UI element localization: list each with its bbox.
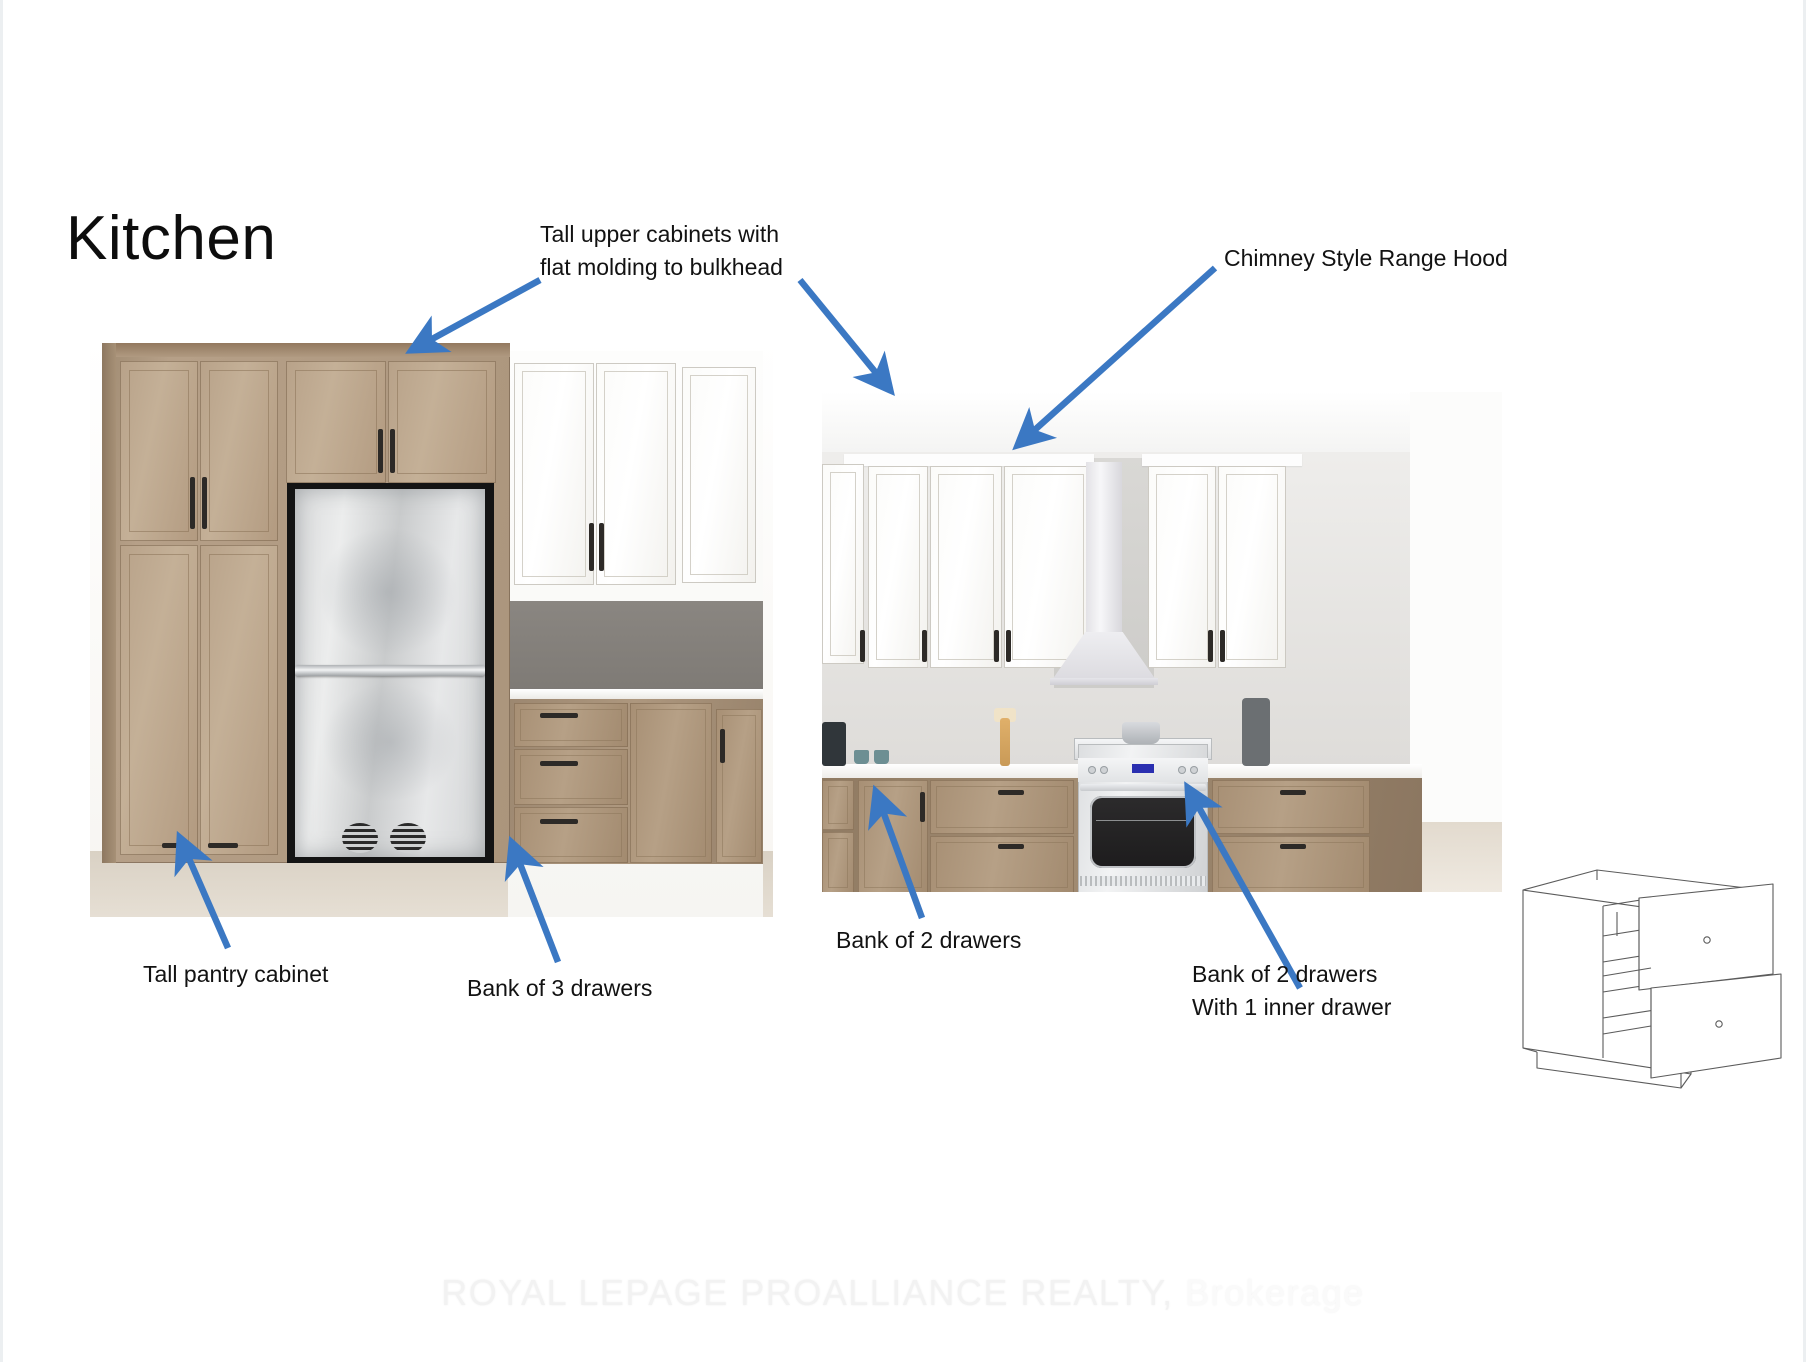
base-door-left [858, 780, 928, 892]
pantry-lower-pull-right [208, 843, 238, 848]
wood-run-top-rail [102, 343, 510, 357]
wood-run-left-side [102, 343, 116, 863]
pantry-upper-pull-left [190, 477, 195, 529]
white-upper-pull-2 [599, 523, 604, 571]
drawer-pull-3 [540, 819, 578, 824]
kitchen-photo-left [90, 337, 773, 917]
corner-drawer-1 [822, 780, 854, 830]
white-upper-door-3 [682, 367, 756, 583]
mug-right [874, 750, 889, 764]
tall-upper-pull-left [378, 429, 383, 473]
left-photo-backsplash [508, 601, 763, 693]
photo-right-side-wall [1410, 392, 1502, 892]
page-title: Kitchen [66, 208, 276, 270]
brokerage-watermark: ROYAL LEPAGE PROALLIANCE REALTY, Brokera… [0, 1272, 1806, 1314]
callout-bank-of-2-drawers: Bank of 2 drawers [836, 924, 1096, 957]
watermark-suffix: Brokerage [1185, 1272, 1365, 1313]
pantry-lower-door-left [120, 545, 198, 855]
drawer-pull-2 [540, 761, 578, 766]
base-door-right [630, 703, 712, 863]
range-hood-lip [1050, 678, 1158, 685]
drawer-3-of-3 [514, 807, 628, 863]
pantry-lower-pull-left [162, 843, 192, 848]
right-bank-pull-1 [1280, 790, 1306, 795]
white-upper-door-c [1004, 466, 1092, 668]
upper-pull-c [994, 630, 999, 662]
callout-tall-upper-cabinets: Tall upper cabinets with flat molding to… [540, 218, 840, 283]
utensil-handle [1000, 718, 1010, 766]
range-knob-1 [1088, 766, 1096, 774]
right-bank-pull-2 [1280, 844, 1306, 849]
white-upper-door-d [1148, 466, 1216, 668]
left-bank-pull-2 [998, 844, 1024, 849]
upper-pull-d [1006, 630, 1011, 662]
fridge-reflection-upper [318, 527, 458, 657]
base-door-pull [720, 729, 725, 763]
range-toe-vents [1080, 876, 1206, 886]
drawer-pull-1 [540, 713, 578, 718]
coffee-maker [822, 722, 846, 766]
upper-crown-right [1142, 454, 1302, 466]
drawer-1-of-3 [514, 703, 628, 747]
tall-upper-pull-right [390, 429, 395, 473]
oven-rack [1096, 820, 1190, 821]
white-upper-door-2 [596, 363, 676, 585]
pantry-upper-door-left [120, 361, 198, 541]
callout-tall-pantry-cabinet: Tall pantry cabinet [143, 958, 403, 991]
fridge-vent-right [390, 823, 426, 853]
mug-left [854, 750, 869, 764]
fridge-freezer-handle [295, 665, 485, 676]
pantry-upper-pull-right [202, 477, 207, 529]
callout-bank-of-3-drawers: Bank of 3 drawers [467, 972, 727, 1005]
white-upper-pull-1 [589, 523, 594, 571]
oven-handle [1080, 784, 1206, 791]
slide-left-edge [0, 0, 3, 1362]
corner-drawer-2 [822, 832, 854, 892]
cooking-pot [1122, 722, 1160, 744]
pantry-upper-door-right [200, 361, 278, 541]
range-knob-3 [1178, 766, 1186, 774]
cabinet-line-drawing [1505, 862, 1785, 1092]
left-bank-pull-1 [998, 790, 1024, 795]
upper-pull-f [1220, 630, 1225, 662]
kitchen-photo-right [822, 392, 1502, 892]
tall-upper-door-left [286, 361, 386, 483]
upper-pull-e [1208, 630, 1213, 662]
white-upper-door-b [930, 466, 1002, 668]
white-upper-corner-door [822, 464, 864, 664]
left-bank-drawer-1 [930, 780, 1074, 834]
range-knob-4 [1190, 766, 1198, 774]
drawer-2-of-3 [514, 749, 628, 805]
photo-right-ceiling [822, 392, 1502, 452]
watermark-separator: , [1162, 1272, 1174, 1313]
oven-window [1090, 796, 1196, 868]
callout-chimney-range-hood: Chimney Style Range Hood [1224, 242, 1554, 275]
range-hood-chimney [1086, 462, 1122, 634]
range-knob-2 [1100, 766, 1108, 774]
base-door-left-pull [920, 792, 925, 822]
right-bank-drawer-1 [1212, 780, 1370, 834]
white-upper-door-e [1218, 466, 1286, 668]
watermark-company: ROYAL LEPAGE PROALLIANCE REALTY [441, 1272, 1162, 1313]
cutting-board [1242, 698, 1270, 766]
fridge-reflection-lower [322, 682, 458, 802]
fridge-vent-left [342, 823, 378, 853]
arrow-tall-upper-right [800, 280, 890, 390]
upper-crown-left [844, 454, 1094, 466]
slide-canvas: Kitchen [0, 0, 1806, 1362]
range-display [1132, 764, 1154, 773]
white-upper-door-a [868, 466, 928, 668]
pantry-lower-door-right [200, 545, 278, 855]
upper-pull-b [922, 630, 927, 662]
tall-upper-door-right [388, 361, 496, 483]
upper-pull-a [860, 630, 865, 662]
white-upper-door-1 [514, 363, 594, 585]
callout-bank-of-2-drawers-inner: Bank of 2 drawers With 1 inner drawer [1192, 958, 1492, 1023]
